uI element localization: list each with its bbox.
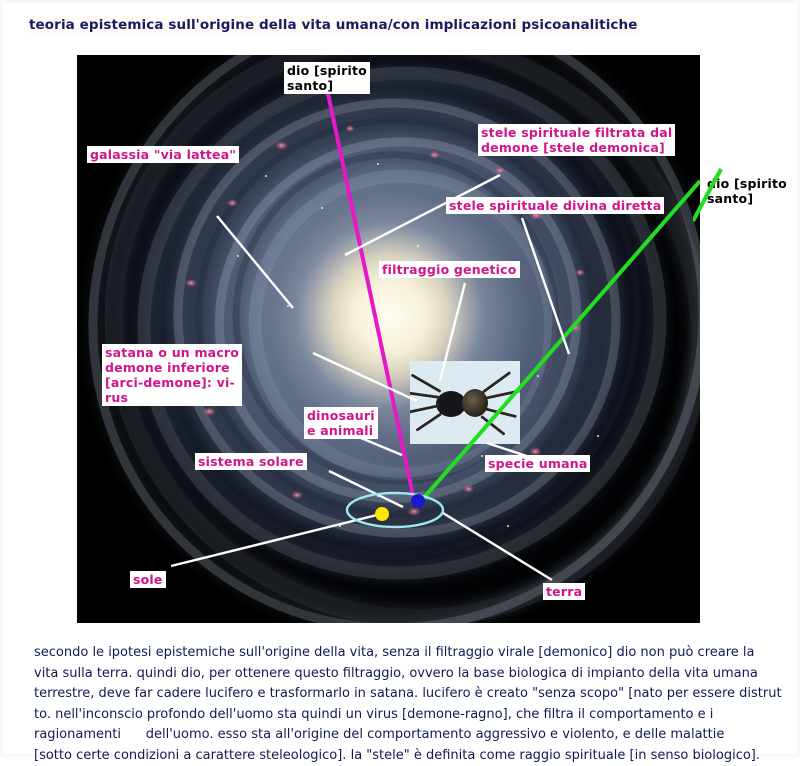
sun-marker	[375, 507, 389, 521]
label-dio-spirito-santo-left: dio [spirito santo]	[284, 62, 370, 94]
page-title: teoria epistemica sull'origine della vit…	[27, 16, 640, 34]
label-terra: terra	[543, 583, 585, 600]
label-specie-umana: specie umana	[485, 455, 590, 472]
leader-satana	[313, 353, 417, 401]
green-ray	[421, 181, 700, 501]
label-stele-divina-diretta: stele spirituale divina diretta	[446, 197, 664, 214]
label-sistema-solare: sistema solare	[195, 453, 307, 470]
solar-system-orbit	[347, 493, 443, 527]
caption-line: secondo le ipotesi epistemiche sull'orig…	[34, 643, 774, 664]
leader-sistema-solare	[329, 471, 403, 507]
caption-line: terrestre, deve far cadere lucifero e tr…	[34, 684, 774, 705]
green-ray-external	[693, 163, 733, 223]
caption-line: ragionamenti dell'uomo. esso sta all'ori…	[34, 725, 774, 746]
caption-line: vita sulla terra. quindi dio, per ottene…	[34, 664, 774, 685]
label-stele-demonica: stele spirituale filtrata dal demone [st…	[478, 124, 675, 156]
leader-terra	[443, 513, 552, 580]
label-satana-arcidemone: satana o un macro demone inferiore [arci…	[102, 344, 242, 406]
label-dinosauri-e-animali: dinosauri e animali	[304, 407, 378, 439]
label-sole: sole	[130, 571, 166, 588]
leader-stele-demonica	[345, 175, 500, 255]
caption-block: secondo le ipotesi epistemiche sull'orig…	[34, 643, 774, 766]
earth-marker	[411, 494, 425, 508]
leader-filtraggio	[440, 283, 465, 381]
leader-stele-divina	[522, 218, 569, 354]
page-root: teoria epistemica sull'origine della vit…	[0, 0, 800, 757]
caption-line: to. nell'inconscio profondo dell'uomo st…	[34, 705, 774, 726]
label-filtraggio-genetico: filtraggio genetico	[379, 261, 520, 278]
leader-sole	[171, 515, 377, 566]
label-galassia-via-lattea: galassia "via lattea"	[87, 146, 239, 163]
caption-line: [sotto certe condizioni a carattere stel…	[34, 746, 774, 766]
leader-galassia	[217, 216, 293, 308]
